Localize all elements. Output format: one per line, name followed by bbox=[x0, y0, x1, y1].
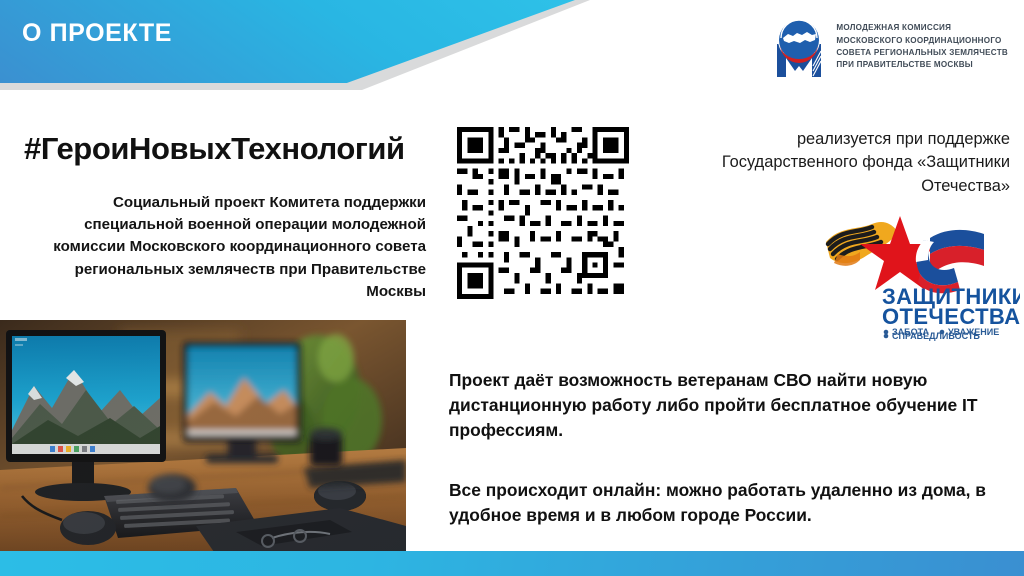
slide-root: О ПРОЕКТЕ bbox=[0, 0, 1024, 576]
organisation-name: МОЛОДЕЖНАЯ КОМИССИЯ МОСКОВСКОГО КООРДИНА… bbox=[836, 22, 1008, 72]
footer-bar bbox=[0, 551, 1024, 576]
defenders-title-line2: ОТЕЧЕСТВА bbox=[882, 304, 1020, 329]
project-hashtag: #ГероиНовыхТехнологий bbox=[24, 131, 424, 167]
org-line-3: СОВЕТА РЕГИОНАЛЬНЫХ ЗЕМЛЯЧЕСТВ bbox=[836, 47, 1008, 59]
workspace-photo bbox=[0, 320, 406, 552]
defenders-of-fatherland-logo: ЗАЩИТНИКИ ОТЕЧЕСТВА ЗАБОТА УВАЖЕНИЕ СПРА… bbox=[824, 200, 1020, 338]
page-title: О ПРОЕКТЕ bbox=[22, 19, 172, 48]
project-qr-code[interactable] bbox=[457, 127, 629, 299]
project-lead-paragraph: Социальный проект Комитета поддержки спе… bbox=[14, 192, 426, 303]
organisation-logo: МОЛОДЕЖНАЯ КОМИССИЯ МОСКОВСКОГО КООРДИНА… bbox=[771, 14, 1008, 80]
organisation-emblem-icon bbox=[771, 14, 827, 80]
support-statement: реализуется при поддержке Государственно… bbox=[680, 128, 1010, 198]
header-banner: О ПРОЕКТЕ bbox=[0, 0, 620, 96]
org-line-1: МОЛОДЕЖНАЯ КОМИССИЯ bbox=[836, 22, 1008, 34]
body-paragraph-2: Все происходит онлайн: можно работать уд… bbox=[449, 478, 1009, 528]
org-line-4: ПРИ ПРАВИТЕЛЬСТВЕ МОСКВЫ bbox=[836, 59, 1008, 71]
defenders-value-3: СПРАВЕДЛИВОСТЬ bbox=[892, 331, 980, 341]
body-paragraph-1: Проект даёт возможность ветеранам СВО на… bbox=[449, 368, 1009, 444]
org-line-2: МОСКОВСКОГО КООРДИНАЦИОННОГО bbox=[836, 35, 1008, 47]
